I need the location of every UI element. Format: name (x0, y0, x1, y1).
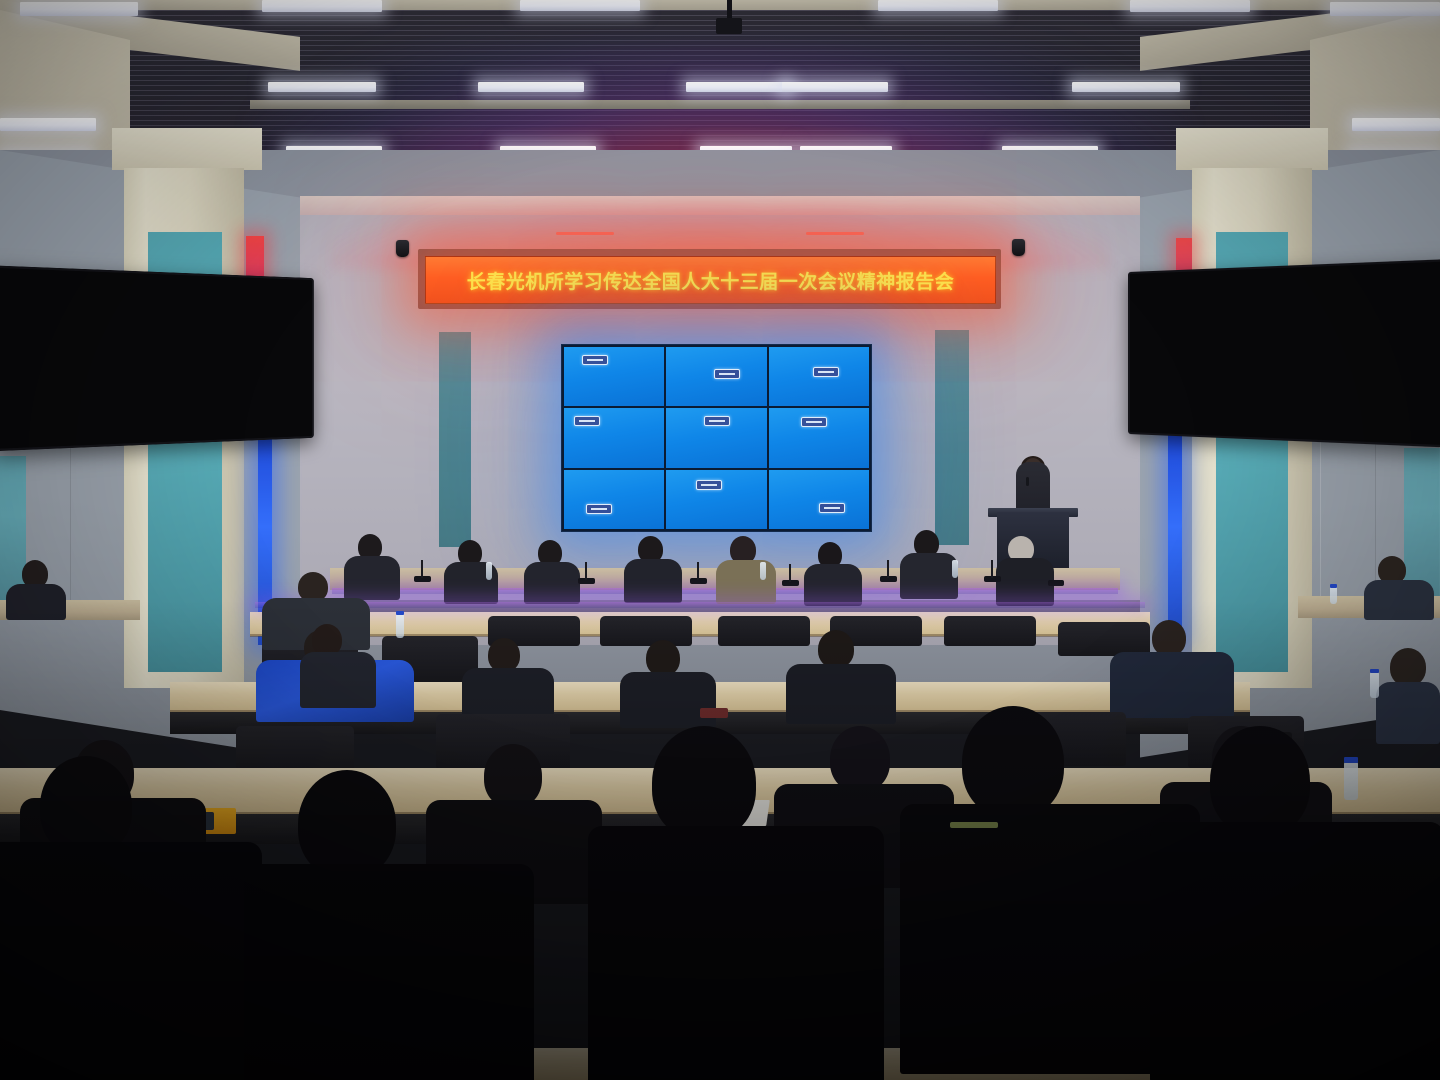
water-bottle (952, 560, 958, 578)
table-led-glow-row1 (255, 602, 1145, 608)
stage-teal-panel-left (439, 332, 471, 547)
person-body (1110, 652, 1234, 718)
no-signal-badge (714, 369, 740, 379)
microphone-gooseneck (789, 564, 791, 582)
side-person-right (1364, 556, 1440, 608)
video-wall-panel[interactable] (564, 347, 664, 406)
no-signal-badge (819, 503, 845, 513)
ceiling-light (1072, 82, 1180, 92)
table-microphone (1048, 580, 1064, 586)
ceiling-light (1130, 0, 1250, 12)
chair (944, 616, 1036, 646)
ceiling-light (268, 82, 376, 92)
led-scrolling-banner: 长春光机所学习传达全国人大十三届一次会议精神报告会 (425, 256, 996, 304)
video-wall-panel[interactable] (769, 347, 869, 406)
microphone-gooseneck (991, 560, 993, 578)
person-head (1152, 620, 1186, 656)
person-head (298, 770, 396, 878)
person-body (624, 559, 682, 603)
chair (600, 616, 692, 646)
person-body (804, 564, 862, 606)
video-wall-panel[interactable] (666, 347, 766, 406)
water-bottle (1330, 586, 1337, 604)
column-right-capital (1176, 128, 1328, 170)
lanyard (950, 822, 998, 828)
video-wall-panel[interactable] (564, 408, 664, 467)
person-body (620, 672, 716, 728)
no-signal-badge (574, 416, 600, 426)
conference-hall-photo: 长春光机所学习传达全国人大十三届一次会议精神报告会 (0, 0, 1440, 1080)
no-signal-badge (586, 504, 612, 514)
water-bottle (1344, 762, 1358, 800)
person-body (300, 652, 376, 708)
person-body (996, 558, 1054, 606)
tv-left-mount (0, 265, 310, 446)
ceiling-light (520, 0, 640, 11)
water-bottle (1370, 672, 1379, 698)
person-head (646, 640, 680, 676)
ceiling-light (686, 82, 790, 92)
wall-speaker-right (1012, 239, 1025, 256)
ceiling-light (20, 2, 138, 16)
person-body (1376, 682, 1440, 744)
person-head (40, 756, 132, 856)
water-bottle (486, 562, 492, 580)
water-bottle (396, 614, 404, 638)
ceiling-light (878, 0, 998, 11)
video-wall-panel[interactable] (769, 470, 869, 529)
tv-right-mount (1128, 259, 1440, 443)
person-head (488, 638, 520, 672)
person-head (1390, 648, 1426, 686)
no-signal-badge (696, 480, 722, 490)
video-wall[interactable] (561, 344, 872, 532)
wall-seam (70, 430, 71, 610)
person-body (6, 584, 66, 620)
microphone-gooseneck (421, 560, 423, 578)
microphone-gooseneck (585, 562, 587, 580)
person-body (588, 826, 884, 1080)
person-head (484, 744, 542, 808)
person-body (1150, 822, 1440, 1080)
ceiling-projector (716, 18, 742, 34)
water-bottle (760, 562, 766, 580)
person-head (830, 726, 890, 792)
bottle-cap (396, 611, 404, 615)
ceiling-light (0, 118, 96, 131)
video-wall-panel[interactable] (666, 470, 766, 529)
column-left-capital (112, 128, 262, 170)
handheld-microphone (1026, 477, 1029, 486)
ceiling-spot-light (806, 232, 864, 235)
left-tv[interactable] (0, 265, 314, 451)
ceiling-spot-light (556, 232, 614, 235)
no-signal-badge (582, 355, 608, 365)
person-body (900, 553, 958, 599)
person-body (0, 842, 262, 1080)
ceiling-light (1330, 2, 1440, 16)
person-body (524, 562, 580, 604)
no-signal-badge (813, 367, 839, 377)
ceiling-light (262, 0, 382, 12)
microphone-gooseneck (697, 562, 699, 580)
no-signal-badge (704, 416, 730, 426)
microphone-gooseneck (887, 560, 889, 578)
person-body (244, 864, 534, 1080)
person-body (344, 556, 400, 600)
video-wall-panel[interactable] (666, 408, 766, 467)
wall-speaker-left (396, 240, 409, 257)
video-wall-panel[interactable] (564, 470, 664, 529)
person-head (1210, 726, 1310, 836)
person-head (652, 726, 756, 840)
no-signal-badge (801, 417, 827, 427)
ceiling-light (478, 82, 584, 92)
person-head (818, 630, 854, 668)
video-wall-panel[interactable] (769, 408, 869, 467)
ceiling-beam-mid (250, 100, 1190, 109)
side-person-left (0, 560, 70, 606)
person-body (1364, 580, 1434, 620)
led-banner-text: 长春光机所学习传达全国人大十三届一次会议精神报告会 (467, 267, 955, 294)
bottle-cap (1330, 584, 1337, 588)
chair (718, 616, 810, 646)
red-object-on-table (700, 708, 728, 718)
person-head (962, 706, 1064, 818)
stage-teal-panel-right (935, 330, 969, 545)
ceiling-light (1352, 118, 1440, 131)
person-body (716, 560, 776, 604)
person-body (786, 664, 896, 724)
ceiling-light (782, 82, 888, 92)
bottle-cap (1370, 669, 1379, 673)
chair (1058, 622, 1150, 656)
bottle-cap (1344, 757, 1358, 763)
column-right-blue-light (1168, 432, 1182, 642)
right-tv[interactable] (1128, 259, 1440, 448)
